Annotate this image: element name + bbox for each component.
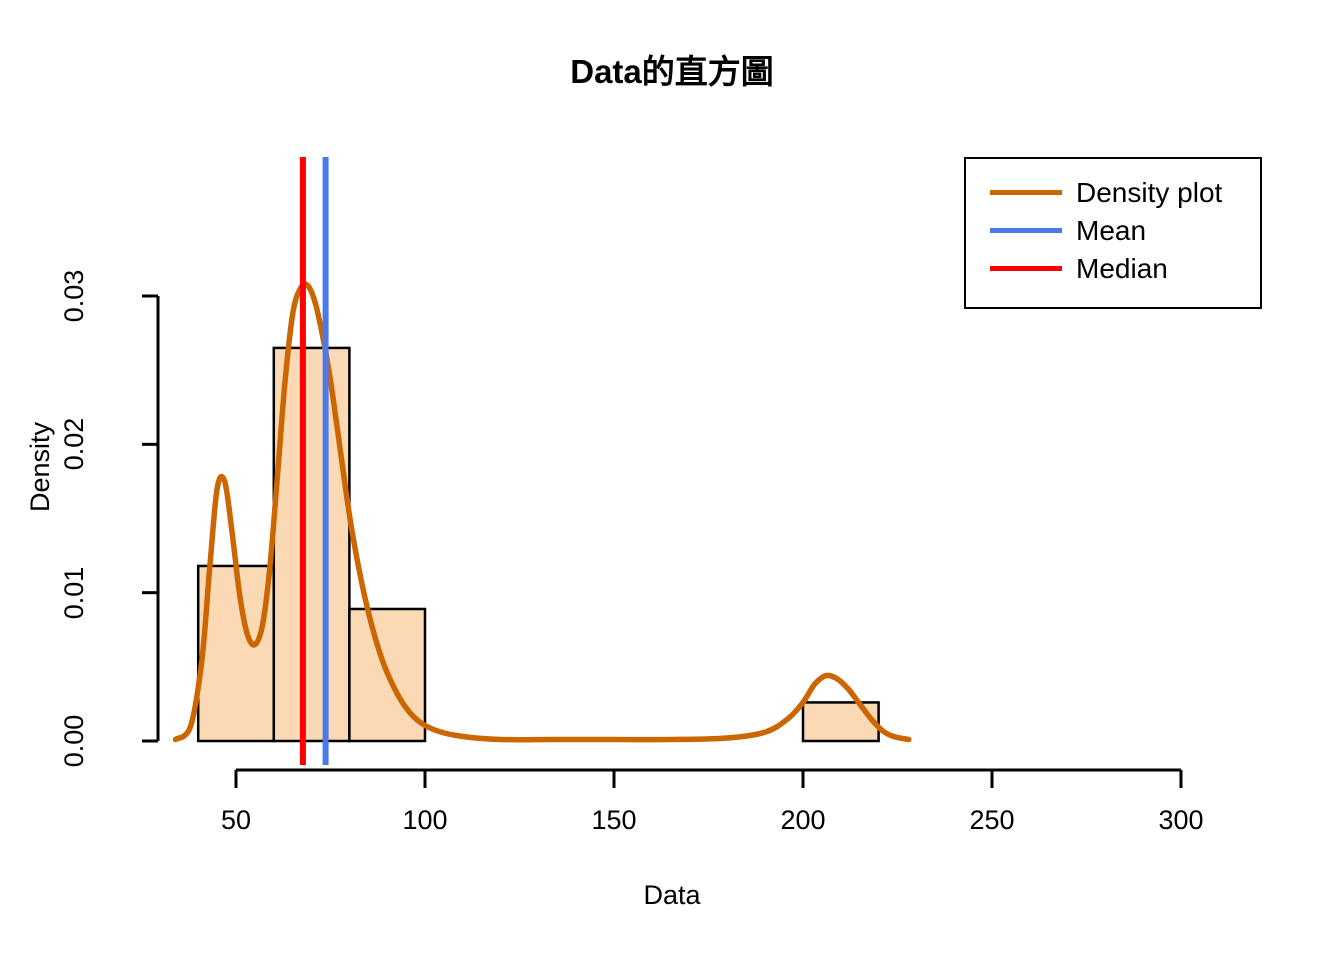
y-axis-title: Density [23, 367, 57, 567]
y-axis-tick-label: 0.03 [59, 236, 89, 356]
x-axis-tick-label: 150 [569, 805, 659, 835]
histogram-plot: Data的直方圖 Density Data 50100150200250300 … [0, 0, 1344, 960]
legend-swatch-icon [990, 266, 1062, 271]
y-axis-tick-label: 0.00 [59, 681, 89, 801]
legend-swatch-icon [990, 190, 1062, 195]
x-axis-tick-label: 200 [758, 805, 848, 835]
legend-item: Density plot [966, 173, 1264, 213]
x-axis-tick-label: 250 [947, 805, 1037, 835]
histogram-bar [803, 702, 879, 741]
legend-item-label: Median [1076, 249, 1168, 289]
y-axis-tick-label: 0.02 [59, 384, 89, 504]
legend-item-label: Density plot [1076, 173, 1222, 213]
x-axis-tick-label: 300 [1136, 805, 1226, 835]
x-axis-title: Data [0, 878, 1344, 912]
x-axis-tick-label: 100 [380, 805, 470, 835]
x-axis-tick-label: 50 [191, 805, 281, 835]
legend-item: Median [966, 249, 1264, 289]
legend-swatch-icon [990, 228, 1062, 233]
legend-item: Mean [966, 211, 1264, 251]
legend-item-label: Mean [1076, 211, 1146, 251]
legend: Density plotMeanMedian [964, 157, 1262, 309]
y-axis-tick-label: 0.01 [59, 533, 89, 653]
